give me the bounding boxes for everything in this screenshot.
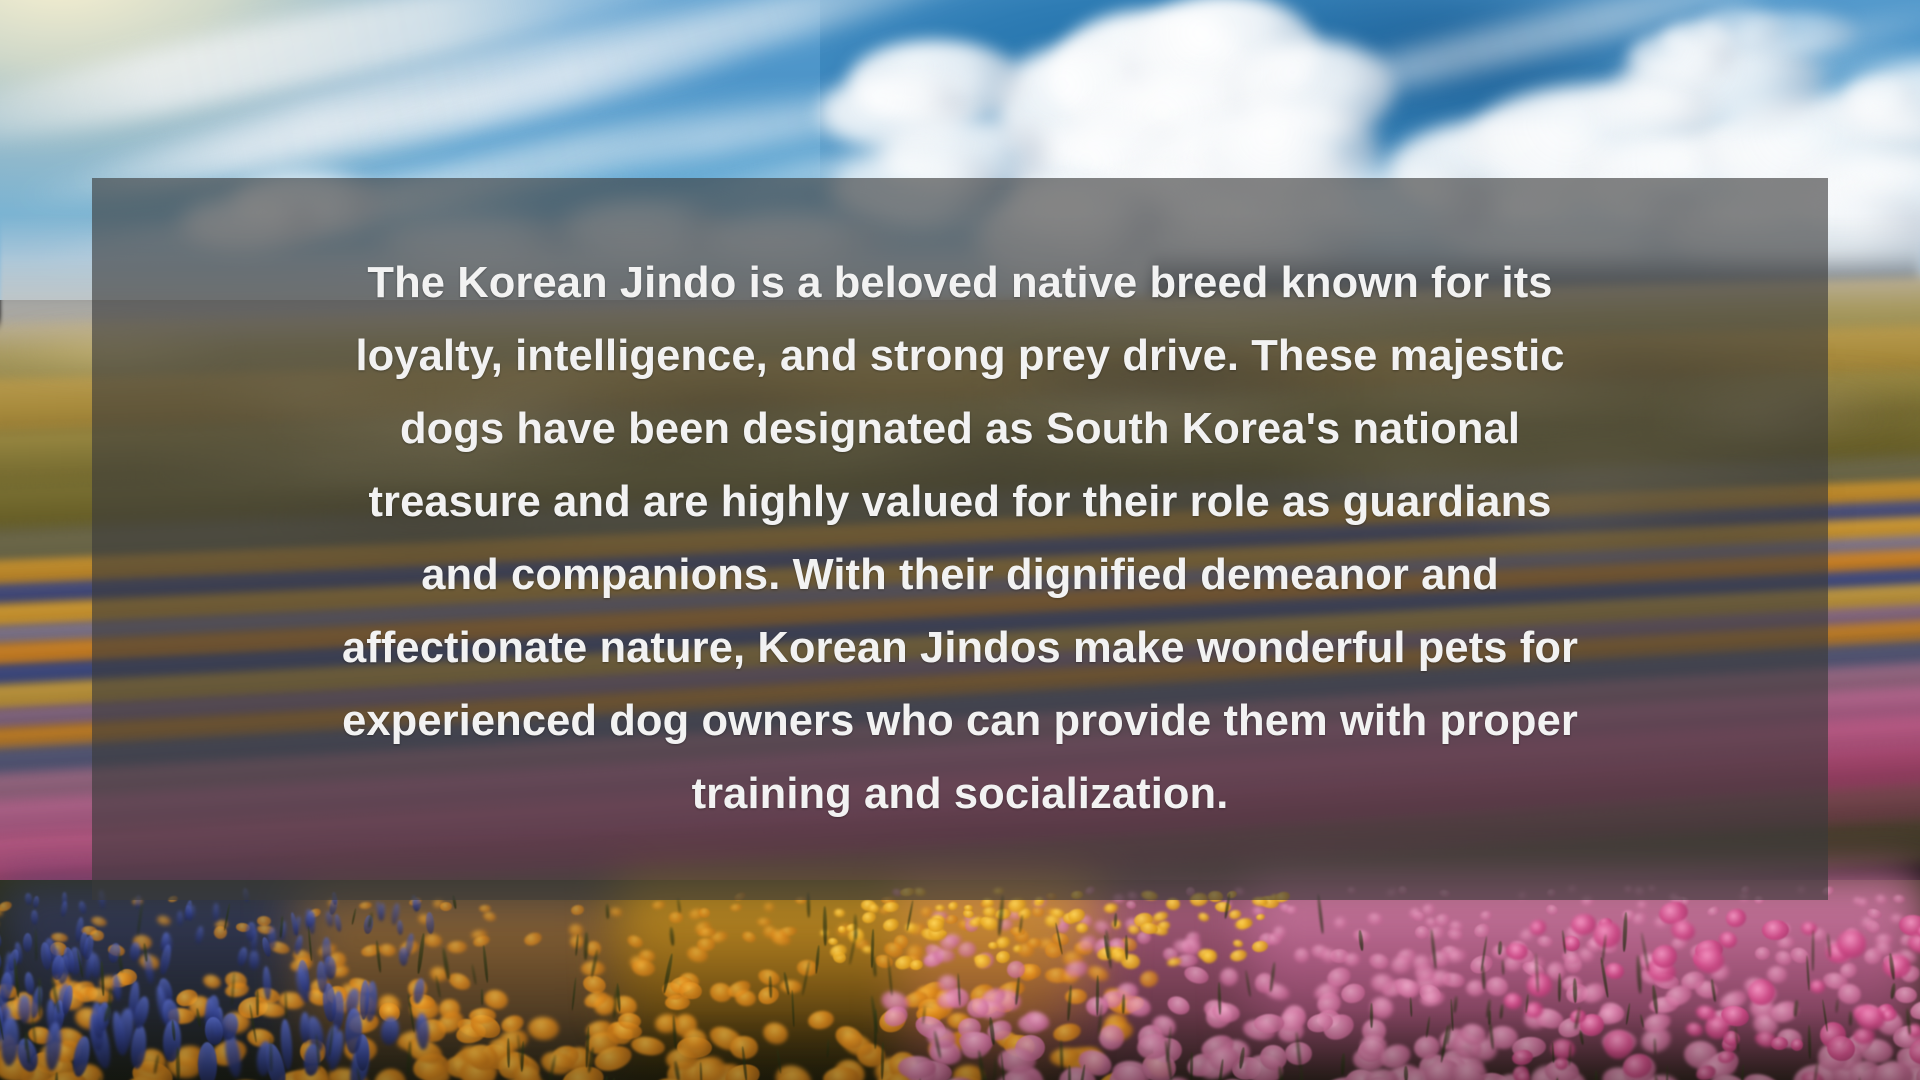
flower-speck — [1031, 907, 1043, 917]
flower-speck — [669, 912, 683, 923]
flower-speck — [1882, 954, 1911, 978]
deep-sky-patch-right — [1200, 0, 1920, 180]
flower-speck — [1812, 930, 1814, 971]
flower-speck — [964, 905, 973, 911]
flower-speck — [1027, 937, 1041, 947]
flower-speck — [177, 911, 183, 926]
flower-speck — [481, 989, 483, 1005]
overlay-body-text: The Korean Jindo is a beloved native bre… — [112, 247, 1808, 831]
flower-speck — [764, 903, 774, 911]
text-overlay-panel: The Korean Jindo is a beloved native bre… — [92, 178, 1828, 900]
bottom-vignette — [0, 1010, 1920, 1080]
flower-speck — [1116, 983, 1137, 1000]
flower-speck — [1858, 898, 1868, 907]
flower-speck — [982, 907, 995, 918]
flower-speck — [823, 906, 827, 946]
screenshot-canvas: The Korean Jindo is a beloved native bre… — [0, 0, 1920, 1080]
